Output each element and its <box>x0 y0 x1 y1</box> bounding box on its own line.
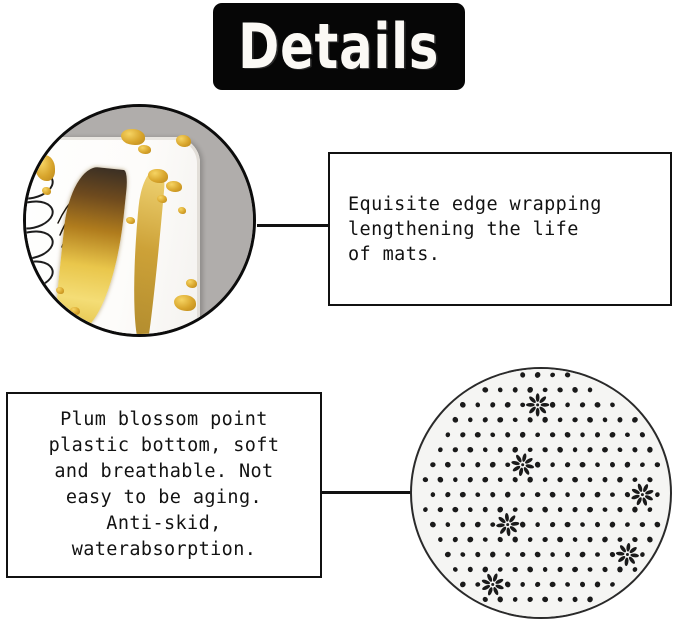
gold-fleck <box>70 307 80 315</box>
leader-line-plum-bottom <box>320 491 414 494</box>
photo-plum-bottom-closeup <box>410 367 672 619</box>
gold-fleck <box>121 129 145 145</box>
gold-fleck <box>42 187 51 195</box>
gold-fleck <box>157 195 167 203</box>
callout-edge-wrapping: Equisite edge wrapping lengthening the l… <box>328 152 672 306</box>
gold-fleck <box>148 169 168 183</box>
gold-fleck <box>56 287 64 294</box>
page-title: Details <box>238 16 439 78</box>
gold-fleck <box>176 135 191 147</box>
details-title-banner: Details <box>213 3 465 90</box>
gold-fleck <box>174 295 196 311</box>
gold-fleck <box>35 155 55 181</box>
gold-fleck <box>178 207 186 214</box>
gold-fleck <box>186 279 197 288</box>
leader-line-edge-wrapping <box>257 224 330 227</box>
gold-fleck <box>126 217 135 224</box>
photo-edge-wrapping-closeup <box>23 104 256 337</box>
callout-plum-bottom: Plum blossom point plastic bottom, soft … <box>6 392 322 578</box>
callout-edge-wrapping-text: Equisite edge wrapping lengthening the l… <box>330 192 610 267</box>
plum-blossom-dot-pattern <box>412 369 670 617</box>
gold-fleck <box>166 181 182 192</box>
gold-fleck <box>138 145 151 154</box>
callout-plum-bottom-text: Plum blossom point plastic bottom, soft … <box>43 407 286 563</box>
